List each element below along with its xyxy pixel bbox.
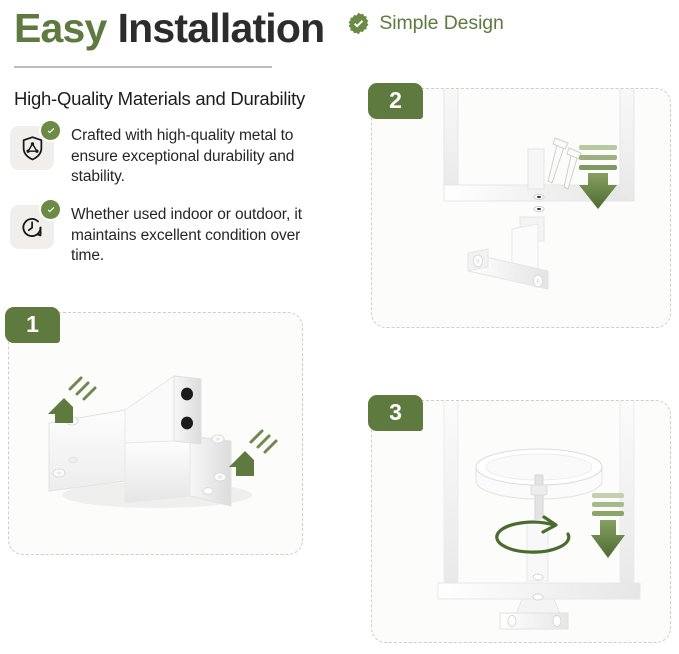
screws-icon [548,138,581,189]
step-panel-1: 1 [8,312,303,555]
step-panel-2: 2 [371,88,671,328]
seal-check-icon [347,12,370,35]
simple-design-label: Simple Design [379,12,503,35]
page-header: EasyInstallation Simple Design [14,2,664,58]
title-word-installation: Installation [118,5,325,51]
arrow-left-down-icon [229,431,276,476]
simple-design-badge: Simple Design [347,12,503,35]
check-circle-icon [41,121,60,140]
wall-bracket-parts-illustration [9,313,302,554]
top-plate-rotation-illustration [372,401,670,642]
feature-item-materials: Crafted with high-quality metal to ensur… [10,126,326,188]
step-number-badge-1: 1 [5,307,60,343]
infographic-page: EasyInstallation Simple Design High-Qual… [0,0,679,654]
page-title: EasyInstallation [14,2,324,54]
feature-text: Whether used indoor or outdoor, it maint… [71,205,326,267]
step-panel-3: 3 [371,400,671,643]
check-circle-icon [41,200,60,219]
step-number: 1 [26,313,39,336]
feature-text: Crafted with high-quality metal to ensur… [71,126,326,188]
title-word-easy: Easy [14,5,107,51]
clock-history-icon [10,205,54,249]
step-number: 2 [389,89,402,112]
step-number: 3 [389,401,402,424]
step-number-badge-3: 3 [368,395,423,431]
step-number-badge-2: 2 [368,83,423,119]
section-subheading: High-Quality Materials and Durability [14,88,305,110]
feature-item-weather: Whether used indoor or outdoor, it maint… [10,205,326,267]
shield-triangle-icon [10,126,54,170]
header-divider [14,66,272,68]
bracket-attached-to-frame-illustration [372,89,670,327]
